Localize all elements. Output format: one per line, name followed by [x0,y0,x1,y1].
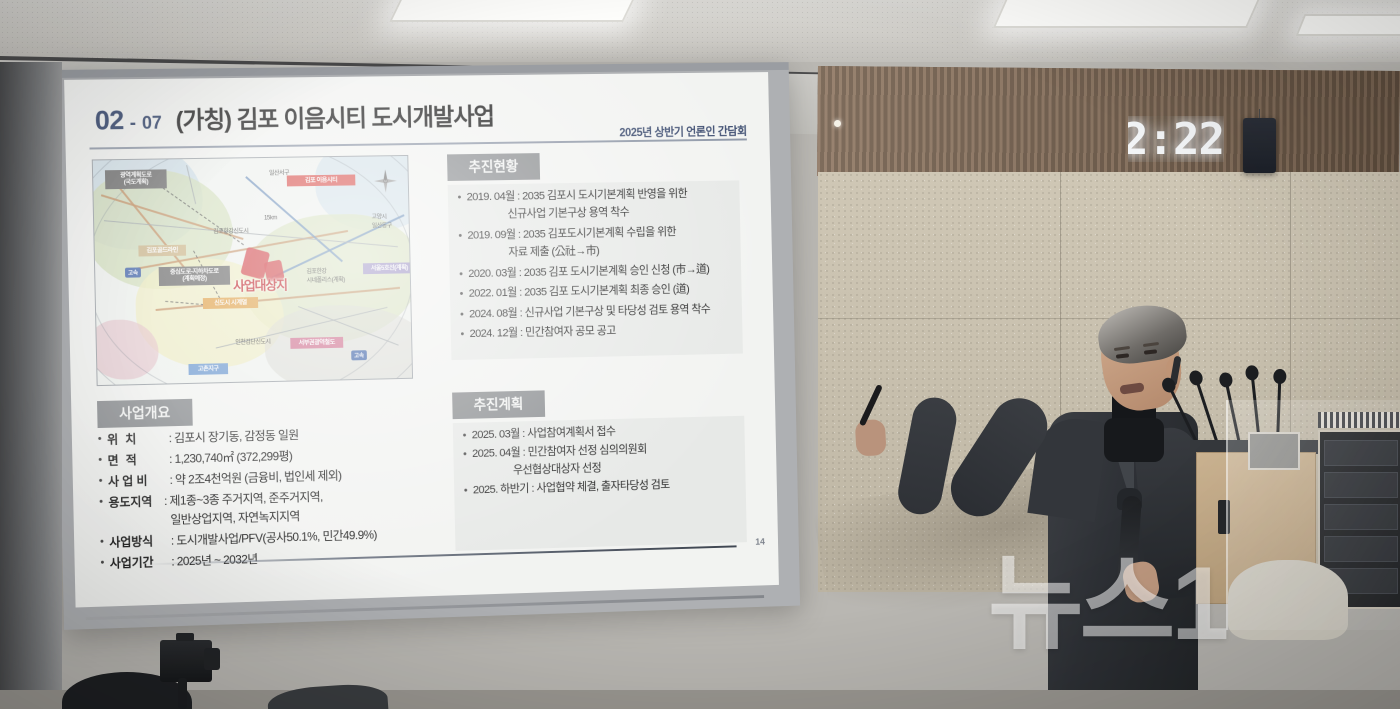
overview-row-label: 사업방식 [109,535,165,549]
map-area-name: 김포한강신도시 [213,226,248,236]
map-highway-shield: 고속 [125,267,141,277]
map-tag-seoul-line5: 서울5호선(계획) [363,262,413,274]
bullet-dot-icon: • [98,434,102,446]
map-tag-underpass-plan: 중심도로-지하차도로(계획예정) [159,266,230,286]
map-tag-kimpo-eumcity: 김포 이음시티 [287,174,356,186]
wall-speaker [1243,118,1276,173]
clock-time: 2:22 [1128,116,1224,162]
map-area-name: 인천검단신도시 [235,336,270,346]
compass-icon [373,168,399,194]
map-area-name: 김포한강시네폴리스(계획) [306,266,345,285]
camera-lens-icon [204,648,220,670]
map-site-label: 사업대상지 [233,275,287,295]
overview-row-continuation: 일반상업지역, 자연녹지지역 [170,509,323,525]
map-area-name: 고양시일산동구 [372,211,392,229]
map-tag-road-plan: 광역계획도로(국도계획) [105,169,167,188]
section-status-body: •2019. 04월 : 2035 김포시 도시기본계획 반영을 위한신규사업 … [448,180,743,360]
map-tag-goldline: 김포골드라인 [138,245,186,257]
list-item-text: 2025. 03월 : 사업참여계획서 접수 [472,427,616,442]
slide-number-dash: - [130,113,137,135]
overview-row-value: : 도시개발사업/PFV(공사50.1%, 민간49.9%) [171,529,377,547]
presenter-turtleneck [1104,418,1164,462]
overview-row-label: 사 업 비 [108,474,164,487]
list-item: •2024. 08월 : 신규사업 기본구상 및 타당성 검토 용역 착수 [460,304,733,321]
location-map: 사업대상지 김포 이음시티 광역계획도로(국도계획) 중심도로-지하차도로(계획… [92,155,413,386]
list-item-text: 2024. 12월 : 민간참여자 공모 공고 [469,326,615,340]
left-wall-edge [0,62,62,702]
map-tag-gtx-west: 서부권광역철도 [290,337,343,349]
map-highway-shield: 고속 [351,350,367,360]
list-item-continuation: 자료 제출 (公社→市) [508,245,676,259]
bullet-dot-icon: • [98,455,102,467]
ceiling-light-panel [993,0,1261,28]
list-item: •위 치: 김포시 장기동, 감정동 일원 [98,426,422,446]
wood-slat-wall [817,66,1400,181]
list-item-text: 2022. 01월 : 2035 김포 도시기본계획 최종 승인 (道) [469,285,690,301]
slide-subnumber: 07 [142,113,162,134]
list-item: •2024. 12월 : 민간참여자 공모 공고 [460,324,733,341]
list-item-text: 2019. 04월 : 2035 김포시 도시기본계획 반영을 위한 [466,189,687,204]
camera-tripod [178,678,187,709]
list-item: •2025. 04월 : 민간참여자 선정 심의의원회우선협상대상자 선정 [463,442,736,478]
bullet-dot-icon: • [99,497,103,528]
glass-partition [1226,400,1400,630]
slide-eyebrow: 2025년 상반기 언론인 간담회 [619,123,747,140]
presentation-slide: 02 - 07 (가칭) 김포 이음시티 도시개발사업 2025년 상반기 언론… [64,72,779,607]
list-item: •2019. 09월 : 2035 김포도시기본계획 수립을 위한자료 제출 (… [458,226,731,260]
bullet-dot-icon: • [463,431,466,442]
list-item: •2019. 04월 : 2035 김포시 도시기본계획 반영을 위한신규사업 … [457,188,730,222]
foreground-desk [0,690,1400,709]
list-item-text: 2025. 하반기 : 사업협약 체결, 출자타당성 검토 [473,480,670,497]
projection-screen: 02 - 07 (가칭) 김포 이음시티 도시개발사업 2025년 상반기 언론… [52,62,800,630]
overview-row-value: : 김포시 장기동, 감정동 일원 [168,429,298,444]
digital-clock: 2:22 [1128,116,1224,162]
list-item: •사업방식: 도시개발사업/PFV(공사50.1%, 민간49.9%) [100,527,424,548]
bullet-dot-icon: • [463,449,467,478]
section-plan: 추진계획 •2025. 03월 : 사업참여계획서 접수 •2025. 04월 … [452,386,747,551]
camera-shoe-icon [176,633,194,641]
map-tag-newtown-line: 신도시 시계열 [203,297,258,309]
title-divider [89,138,746,149]
section-plan-body: •2025. 03월 : 사업참여계획서 접수 •2025. 04월 : 민간참… [453,416,747,551]
bullet-dot-icon: • [100,537,104,549]
list-item: •사 업 비: 약 2조4천억원 (금융비, 법인세 제외) [99,467,423,488]
list-item: •면 적: 1,230,740㎡ (372,299평) [98,447,422,467]
wall-light-icon [834,120,841,127]
bullet-dot-icon: • [460,330,463,341]
list-item: •2022. 01월 : 2035 김포 도시기본계획 최종 승인 (道) [460,284,733,301]
bullet-dot-icon: • [460,309,463,320]
overview-row-label: 면 적 [107,453,163,466]
plan-bullet-list: •2025. 03월 : 사업참여계획서 접수 •2025. 04월 : 민간참… [463,424,737,498]
list-item-continuation: 우선협상대상자 선정 [513,463,647,478]
bullet-dot-icon: • [459,269,462,280]
slide-page-number: 14 [755,537,765,547]
overview-row-label: 위 치 [107,432,163,445]
bullet-dot-icon: • [458,231,462,260]
overview-row-value: : 1,230,740㎡ (372,299평) [169,450,292,465]
audience-head [267,682,389,709]
section-overview-title: 사업개요 [97,399,192,428]
slide-heading-text: (가칭) 김포 이음시티 도시개발사업 [175,97,494,136]
bullet-dot-icon: • [460,289,463,300]
overview-row-list: •위 치: 김포시 장기동, 감정동 일원 •면 적: 1,230,740㎡ (… [98,426,425,570]
map-distance-label: 15km [264,215,277,221]
wood-wall-shading [817,66,1400,181]
map-area-name: 일산서구 [269,168,289,177]
list-item: •용도지역: 제1종~3종 주거지역, 준주거지역,일반상업지역, 자연녹지지역 [99,488,424,528]
presenter-left-hand [855,419,887,457]
section-plan-title: 추진계획 [452,390,545,419]
bullet-dot-icon: • [464,486,467,497]
ceiling-light-panel [389,0,637,22]
list-item: •2025. 03월 : 사업참여계획서 접수 [463,424,736,442]
slide-title: 02 - 07 (가칭) 김포 이음시티 도시개발사업 [94,97,494,137]
status-bullet-list: •2019. 04월 : 2035 김포시 도시기본계획 반영을 위한신규사업 … [457,188,733,341]
section-status-title: 추진현황 [447,153,540,181]
section-status: 추진현황 •2019. 04월 : 2035 김포시 도시기본계획 반영을 위한… [447,150,743,360]
overview-row-label: 용도지역 [108,495,164,509]
slide-number: 02 [95,105,125,136]
list-item: •2020. 03월 : 2035 김포 도시기본계획 승인 신청 (市→道) [459,264,732,281]
overview-row-value: : 약 2조4천억원 (금융비, 법인세 제외) [169,469,341,486]
list-item: •2025. 하반기 : 사업협약 체결, 출자타당성 검토 [464,479,737,498]
section-overview-body: •위 치: 김포시 장기동, 감정동 일원 •면 적: 1,230,740㎡ (… [98,426,425,570]
section-overview: 사업개요 •위 치: 김포시 장기동, 감정동 일원 •면 적: 1,230,7… [97,393,425,578]
list-item-text: 2025. 04월 : 민간참여자 선정 심의의원회 [472,445,647,461]
video-camera [160,640,212,682]
overview-row-value: : 제1종~3종 주거지역, 준주거지역, [164,490,323,508]
list-item-text: 2020. 03월 : 2035 김포 도시기본계획 승인 신청 (市→道) [468,264,709,280]
bullet-dot-icon: • [457,193,461,222]
photo-scene: 2:22 02 - 07 (가칭) 김포 이음시티 도시개발사업 2025년 상… [0,0,1400,709]
list-item-text: 2024. 08월 : 신규사업 기본구상 및 타당성 검토 용역 착수 [469,304,710,320]
speaker-cable [1259,109,1260,118]
list-item-continuation: 신규사업 기본구상 용역 착수 [507,207,687,221]
bullet-dot-icon: • [99,476,103,488]
ceiling-light-panel [1296,14,1400,36]
bullet-dot-icon: • [100,558,104,570]
list-item-text: 2019. 09월 : 2035 김포도시기본계획 수립을 위한 [467,227,676,242]
map-tag-gochon: 고촌지구 [188,363,228,375]
